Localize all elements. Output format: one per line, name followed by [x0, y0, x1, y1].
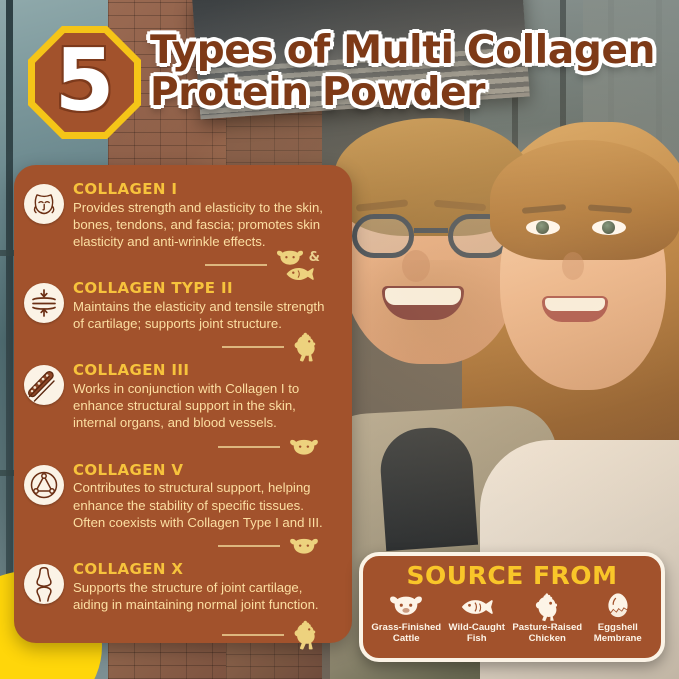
divider-rule	[218, 446, 280, 448]
number-badge: 5	[28, 26, 141, 139]
source-label-line1: Eggshell	[598, 622, 638, 633]
woman-pupil	[602, 221, 615, 234]
list-item-text: COLLAGEN I Provides strength and elastic…	[73, 181, 338, 250]
source-divider: &	[24, 250, 338, 280]
source-label-line1: Pasture-Raised	[512, 622, 582, 633]
glasses-bridge	[414, 228, 448, 233]
chicken-icon	[292, 332, 320, 362]
cow-icon	[275, 249, 305, 266]
collagen-type-title: COLLAGEN V	[73, 462, 338, 479]
source-from-title: SOURCE FROM	[371, 563, 653, 589]
cow-icon	[288, 535, 320, 557]
man-teeth	[385, 288, 461, 305]
source-item-label: Wild-Caught Fish	[442, 623, 513, 644]
source-label-line2: Chicken	[529, 633, 566, 644]
source-divider	[24, 613, 338, 657]
list-item-text: COLLAGEN TYPE II Maintains the elasticit…	[73, 280, 338, 332]
woman-eye	[526, 220, 560, 235]
source-separator: &	[309, 250, 320, 265]
collagen-type-title: COLLAGEN III	[73, 362, 338, 379]
collagen-type-description: Maintains the elasticity and tensile str…	[73, 298, 338, 332]
cow-icon	[288, 436, 320, 458]
divider-rule	[205, 264, 267, 266]
source-from-panel: SOURCE FROM Grass-Finished Cattle	[359, 552, 665, 662]
fish-icon	[442, 592, 513, 622]
eyeglasses	[352, 214, 510, 258]
source-item-label: Pasture-Raised Chicken	[512, 623, 583, 644]
chicken-icon	[292, 620, 320, 650]
joint-bone-icon	[24, 564, 64, 604]
face-icon	[24, 184, 64, 224]
woman-eye	[592, 220, 626, 235]
blood-vessel-icon	[24, 365, 64, 405]
source-item-chicken: Pasture-Raised Chicken	[512, 592, 583, 644]
collagen-type-description: Provides strength and elasticity to the …	[73, 199, 338, 250]
source-item-label: Eggshell Membrane	[583, 623, 654, 644]
badge-number: 5	[28, 26, 141, 139]
list-item-text: COLLAGEN X Supports the structure of joi…	[73, 561, 338, 613]
woman-pupil	[536, 221, 549, 234]
source-item-fish: Wild-Caught Fish	[442, 592, 513, 644]
list-item: COLLAGEN X Supports the structure of joi…	[24, 561, 338, 613]
source-label-line2: Membrane	[594, 633, 642, 644]
source-divider	[24, 531, 338, 561]
source-label-line2: Fish	[467, 633, 487, 644]
collagen-types-card: COLLAGEN I Provides strength and elastic…	[14, 165, 352, 643]
collagen-type-description: Works in conjunction with Collagen I to …	[73, 380, 338, 431]
page-title-line2: Protein Powder	[150, 72, 670, 114]
source-item-eggshell: Eggshell Membrane	[583, 592, 654, 644]
collagen-type-title: COLLAGEN X	[73, 561, 338, 578]
list-item: COLLAGEN I Provides strength and elastic…	[24, 181, 338, 250]
glasses-lens	[352, 214, 414, 258]
woman-smile	[542, 296, 608, 322]
source-label-line2: Cattle	[393, 633, 420, 644]
source-label-line1: Grass-Finished	[371, 622, 441, 633]
cow-head-icon	[371, 592, 442, 622]
source-animal-row: &	[275, 249, 320, 266]
collagen-type-title: COLLAGEN I	[73, 181, 338, 198]
collagen-type-description: Contributes to structural support, helpi…	[73, 479, 338, 530]
infographic-canvas: 5 Types of Multi Collagen Protein Powder…	[0, 0, 679, 679]
woman-nose	[562, 252, 584, 280]
source-animal-group: &	[275, 249, 320, 282]
list-item: COLLAGEN III Works in conjunction with C…	[24, 362, 338, 431]
collagen-type-description: Supports the structure of joint cartilag…	[73, 579, 338, 613]
divider-rule	[222, 634, 284, 636]
page-title: Types of Multi Collagen Protein Powder	[150, 30, 670, 114]
cartilage-compression-icon	[24, 283, 64, 323]
eggshell-icon	[583, 592, 654, 622]
divider-rule	[218, 545, 280, 547]
source-divider	[24, 332, 338, 362]
woman-teeth	[545, 298, 605, 311]
list-item-text: COLLAGEN III Works in conjunction with C…	[73, 362, 338, 431]
source-divider	[24, 432, 338, 462]
list-item: COLLAGEN TYPE II Maintains the elasticit…	[24, 280, 338, 332]
list-item-text: COLLAGEN V Contributes to structural sup…	[73, 462, 338, 531]
molecule-triangle-icon	[24, 465, 64, 505]
source-item-cattle: Grass-Finished Cattle	[371, 592, 442, 644]
source-label-line1: Wild-Caught	[449, 622, 505, 633]
source-item-label: Grass-Finished Cattle	[371, 623, 442, 644]
chicken-head-icon	[512, 592, 583, 622]
page-title-line1: Types of Multi Collagen	[150, 28, 655, 73]
list-item: COLLAGEN V Contributes to structural sup…	[24, 462, 338, 531]
man-shirt	[378, 425, 478, 551]
source-list: Grass-Finished Cattle Wild-Caught Fish	[371, 592, 653, 644]
woman-hair-front	[490, 140, 679, 260]
collagen-type-title: COLLAGEN TYPE II	[73, 280, 338, 297]
divider-rule	[222, 346, 284, 348]
